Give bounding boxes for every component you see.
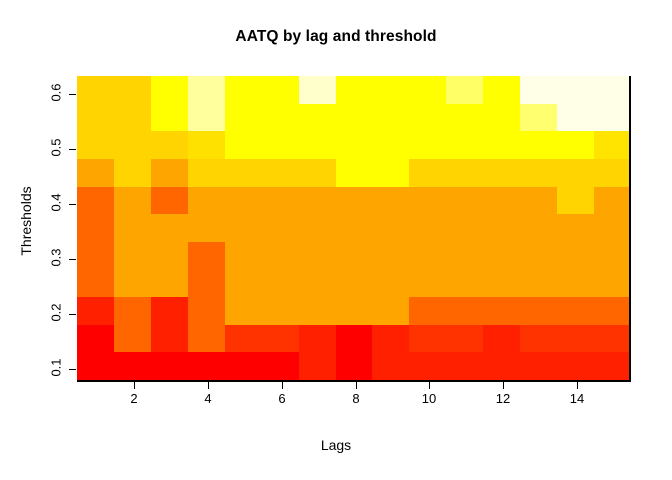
- x-axis-title: Lags: [0, 437, 672, 453]
- heatmap-cell: [483, 297, 520, 325]
- heatmap-cell: [483, 242, 520, 270]
- heatmap-cell: [188, 131, 225, 159]
- heatmap-cell: [188, 352, 225, 380]
- heatmap-cell: [77, 297, 114, 325]
- heatmap-cell: [372, 352, 409, 380]
- heatmap-cell: [557, 352, 594, 380]
- heatmap-cell: [520, 76, 557, 104]
- heatmap-cell: [225, 131, 262, 159]
- heatmap-cell: [262, 214, 299, 242]
- y-axis-title: Thresholds: [18, 151, 34, 291]
- heatmap-cell: [520, 352, 557, 380]
- heatmap-cell: [557, 242, 594, 270]
- heatmap-cell: [483, 352, 520, 380]
- heatmap-cell: [225, 297, 262, 325]
- y-tick-label: 0.6: [49, 83, 64, 103]
- heatmap-cell: [262, 104, 299, 132]
- heatmap-cell: [446, 76, 483, 104]
- heatmap-cell: [262, 269, 299, 297]
- heatmap-cell: [299, 352, 336, 380]
- y-tick-mark: [69, 94, 76, 95]
- heatmap-cell: [483, 104, 520, 132]
- heatmap-cell: [483, 187, 520, 215]
- x-tick-mark: [134, 382, 135, 389]
- heatmap-cell: [225, 76, 262, 104]
- heatmap-cell: [151, 187, 188, 215]
- heatmap-cell: [299, 242, 336, 270]
- heatmap-cell: [409, 187, 446, 215]
- x-tick-mark: [208, 382, 209, 389]
- heatmap-cell: [188, 187, 225, 215]
- heatmap-cell: [372, 131, 409, 159]
- heatmap-cell: [188, 76, 225, 104]
- heatmap-cell: [299, 104, 336, 132]
- heatmap-cell: [409, 269, 446, 297]
- heatmap-cell: [336, 352, 373, 380]
- y-tick-mark: [69, 259, 76, 260]
- heatmap-cell: [77, 131, 114, 159]
- heatmap-cell: [557, 325, 594, 353]
- heatmap-cell: [446, 269, 483, 297]
- heatmap-cell: [557, 214, 594, 242]
- heatmap-cell: [594, 159, 631, 187]
- heatmap-cell: [520, 104, 557, 132]
- y-tick-label: 0.1: [49, 358, 64, 378]
- y-tick-label: 0.5: [49, 138, 64, 158]
- heatmap-cell: [520, 269, 557, 297]
- heatmap-cell: [336, 214, 373, 242]
- heatmap-cell: [225, 352, 262, 380]
- heatmap-cell: [262, 352, 299, 380]
- heatmap-cell: [594, 187, 631, 215]
- heatmap-cell: [557, 297, 594, 325]
- y-tick-label: 0.2: [49, 303, 64, 323]
- heatmap-cell: [594, 214, 631, 242]
- x-tick-mark: [282, 382, 283, 389]
- x-tick-mark: [429, 382, 430, 389]
- heatmap-cell: [594, 352, 631, 380]
- x-tick-label: 10: [409, 391, 449, 406]
- heatmap-cell: [151, 269, 188, 297]
- heatmap-cell: [446, 325, 483, 353]
- heatmap-cell: [336, 104, 373, 132]
- heatmap-cell: [372, 187, 409, 215]
- heatmap-cell: [336, 131, 373, 159]
- heatmap-cell: [372, 214, 409, 242]
- heatmap-cell: [151, 325, 188, 353]
- heatmap-cell: [446, 187, 483, 215]
- heatmap-cell: [336, 159, 373, 187]
- heatmap-cell: [409, 104, 446, 132]
- heatmap-cell: [520, 131, 557, 159]
- heatmap-cell: [409, 214, 446, 242]
- heatmap-cell: [114, 325, 151, 353]
- heatmap-cell: [336, 297, 373, 325]
- x-tick-label: 14: [557, 391, 597, 406]
- heatmap-cell: [262, 76, 299, 104]
- x-axis-line: [77, 380, 631, 382]
- heatmap-cell: [520, 297, 557, 325]
- heatmap-cell: [336, 187, 373, 215]
- heatmap-cell: [77, 214, 114, 242]
- heatmap-cell: [446, 297, 483, 325]
- heatmap-cell: [151, 214, 188, 242]
- y-tick-label: 0.3: [49, 248, 64, 268]
- heatmap-cell: [114, 242, 151, 270]
- heatmap-cell: [483, 76, 520, 104]
- x-tick-mark: [503, 382, 504, 389]
- x-tick-mark: [577, 382, 578, 389]
- y-tick-label: 0.4: [49, 193, 64, 213]
- heatmap-cell: [225, 187, 262, 215]
- heatmap-cell: [409, 325, 446, 353]
- heatmap-cell: [188, 159, 225, 187]
- heatmap-cell: [446, 242, 483, 270]
- x-tick-label: 12: [483, 391, 523, 406]
- y-tick-mark: [69, 204, 76, 205]
- heatmap-cell: [594, 242, 631, 270]
- heatmap-cell: [483, 159, 520, 187]
- heatmap-cell: [262, 131, 299, 159]
- heatmap-cell: [77, 104, 114, 132]
- heatmap-cell: [299, 297, 336, 325]
- heatmap-cell: [299, 159, 336, 187]
- heatmap-cell: [225, 325, 262, 353]
- heatmap-plot-area: [77, 76, 631, 380]
- heatmap-cell: [114, 352, 151, 380]
- x-tick-label: 4: [188, 391, 228, 406]
- heatmap-cell: [372, 104, 409, 132]
- heatmap-cell: [557, 159, 594, 187]
- heatmap-cell: [520, 159, 557, 187]
- heatmap-cell: [446, 214, 483, 242]
- heatmap-cell: [188, 242, 225, 270]
- heatmap-cell: [336, 76, 373, 104]
- heatmap-cell: [594, 269, 631, 297]
- heatmap-cell: [557, 187, 594, 215]
- heatmap-cell: [299, 325, 336, 353]
- heatmap-cell: [483, 269, 520, 297]
- heatmap-cell: [446, 159, 483, 187]
- heatmap-cell: [77, 76, 114, 104]
- heatmap-cell: [372, 325, 409, 353]
- heatmap-cell: [483, 325, 520, 353]
- heatmap-cell: [446, 131, 483, 159]
- heatmap-cell: [77, 159, 114, 187]
- heatmap-cell: [77, 325, 114, 353]
- heatmap-cell: [114, 269, 151, 297]
- heatmap-cell: [336, 325, 373, 353]
- heatmap-cell: [262, 242, 299, 270]
- heatmap-cell: [557, 104, 594, 132]
- heatmap-cell: [77, 242, 114, 270]
- heatmap-cell: [409, 131, 446, 159]
- heatmap-cell: [372, 297, 409, 325]
- heatmap-cell: [594, 131, 631, 159]
- y-tick-mark: [69, 314, 76, 315]
- heatmap-cell: [262, 325, 299, 353]
- heatmap-cell: [151, 242, 188, 270]
- heatmap-cell: [225, 269, 262, 297]
- x-tick-mark: [356, 382, 357, 389]
- heatmap-cell: [262, 187, 299, 215]
- heatmap-cell: [409, 297, 446, 325]
- heatmap-cell: [77, 352, 114, 380]
- heatmap-cell: [151, 76, 188, 104]
- heatmap-cell: [336, 269, 373, 297]
- heatmap-cell: [114, 104, 151, 132]
- heatmap-cell: [446, 352, 483, 380]
- heatmap-cell: [262, 159, 299, 187]
- heatmap-cell: [409, 352, 446, 380]
- heatmap-cell: [372, 159, 409, 187]
- heatmap-cell: [77, 269, 114, 297]
- heatmap-cell: [262, 297, 299, 325]
- heatmap-cell: [114, 214, 151, 242]
- heatmap-cell: [299, 187, 336, 215]
- heatmap-cell: [520, 325, 557, 353]
- heatmap-cell: [151, 297, 188, 325]
- heatmap-cell: [225, 159, 262, 187]
- heatmap-cell: [520, 214, 557, 242]
- heatmap-cell: [372, 269, 409, 297]
- heatmap-cell: [483, 131, 520, 159]
- heatmap-cell: [594, 297, 631, 325]
- heatmap-cell: [225, 104, 262, 132]
- heatmap-cell: [520, 187, 557, 215]
- chart-figure: AATQ by lag and threshold 2468101214 0.6…: [0, 0, 672, 480]
- heatmap-cell: [151, 352, 188, 380]
- heatmap-cell: [77, 187, 114, 215]
- heatmap-cell: [299, 76, 336, 104]
- heatmap-cell: [594, 76, 631, 104]
- chart-title: AATQ by lag and threshold: [0, 28, 672, 46]
- heatmap-cell: [114, 131, 151, 159]
- heatmap-cell: [594, 104, 631, 132]
- heatmap-cell: [299, 214, 336, 242]
- heatmap-cell: [114, 159, 151, 187]
- heatmap-cell: [336, 242, 373, 270]
- y-tick-mark: [69, 369, 76, 370]
- heatmap-cell: [299, 131, 336, 159]
- heatmap-cell: [409, 242, 446, 270]
- x-tick-label: 8: [336, 391, 376, 406]
- y-tick-mark: [69, 149, 76, 150]
- heatmap-cell: [188, 269, 225, 297]
- heatmap-cell: [188, 297, 225, 325]
- heatmap-cell: [372, 242, 409, 270]
- heatmap-cell: [557, 269, 594, 297]
- x-tick-label: 2: [114, 391, 154, 406]
- heatmap-cell: [188, 104, 225, 132]
- heatmap-cell: [114, 297, 151, 325]
- heatmap-cell: [409, 76, 446, 104]
- heatmap-cell: [557, 131, 594, 159]
- heatmap-cell: [299, 269, 336, 297]
- heatmap-grid: [77, 76, 631, 380]
- heatmap-cell: [594, 325, 631, 353]
- heatmap-cell: [114, 76, 151, 104]
- heatmap-cell: [225, 242, 262, 270]
- x-tick-label: 6: [262, 391, 302, 406]
- heatmap-cell: [483, 214, 520, 242]
- heatmap-cell: [114, 187, 151, 215]
- heatmap-cell: [520, 242, 557, 270]
- heatmap-cell: [225, 214, 262, 242]
- heatmap-cell: [151, 159, 188, 187]
- heatmap-cell: [409, 159, 446, 187]
- heatmap-cell: [151, 131, 188, 159]
- heatmap-cell: [372, 76, 409, 104]
- y-axis-line: [629, 76, 631, 380]
- heatmap-cell: [557, 76, 594, 104]
- heatmap-cell: [188, 325, 225, 353]
- heatmap-cell: [188, 214, 225, 242]
- heatmap-cell: [446, 104, 483, 132]
- heatmap-cell: [151, 104, 188, 132]
